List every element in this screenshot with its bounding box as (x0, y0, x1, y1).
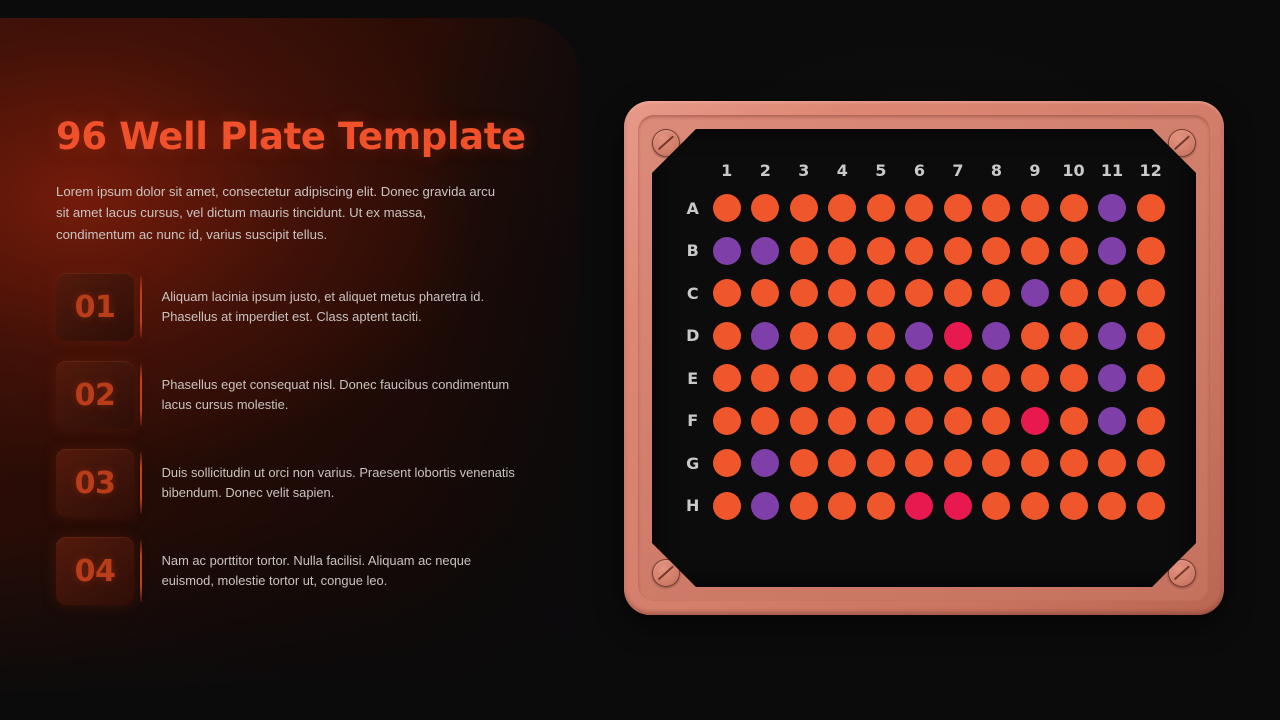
well-C12[interactable] (1137, 279, 1165, 307)
row-header-G: G (678, 442, 707, 485)
row-header-D: D (678, 315, 707, 358)
well-A4[interactable] (828, 194, 856, 222)
slide-canvas: 96 Well Plate Template Lorem ipsum dolor… (0, 0, 1280, 720)
well-cell (1016, 357, 1055, 400)
well-cell (939, 357, 978, 400)
list-item[interactable]: 01 Aliquam lacinia ipsum justo, et aliqu… (56, 273, 526, 341)
row-header-A: A (678, 187, 707, 230)
well-row-A: A (678, 187, 1170, 230)
well-cell (1054, 315, 1093, 358)
well-cell (977, 442, 1016, 485)
well-C9[interactable] (1021, 279, 1049, 307)
well-D7[interactable] (944, 322, 972, 350)
well-cell (900, 230, 939, 273)
well-H3[interactable] (790, 492, 818, 520)
well-row-B: B (678, 230, 1170, 273)
well-cell (746, 485, 785, 528)
well-G2[interactable] (751, 449, 779, 477)
left-content-column: 96 Well Plate Template Lorem ipsum dolor… (56, 118, 526, 605)
well-plate[interactable]: 123456789101112ABCDEFGH (624, 101, 1224, 615)
well-cell (823, 400, 862, 443)
well-H10[interactable] (1060, 492, 1088, 520)
well-B3[interactable] (790, 237, 818, 265)
well-cell (1054, 442, 1093, 485)
well-A5[interactable] (867, 194, 895, 222)
well-cell (939, 187, 978, 230)
well-E7[interactable] (944, 364, 972, 392)
plate-well-area: 123456789101112ABCDEFGH (652, 129, 1196, 587)
well-cell (862, 272, 901, 315)
well-G11[interactable] (1098, 449, 1126, 477)
well-row-G: G (678, 442, 1170, 485)
well-B4[interactable] (828, 237, 856, 265)
well-row-E: E (678, 357, 1170, 400)
well-cell (1131, 442, 1170, 485)
well-F1[interactable] (713, 407, 741, 435)
well-cell (939, 272, 978, 315)
well-B7[interactable] (944, 237, 972, 265)
well-cell (900, 442, 939, 485)
well-D9[interactable] (1021, 322, 1049, 350)
well-E9[interactable] (1021, 364, 1049, 392)
well-C11[interactable] (1098, 279, 1126, 307)
well-cell (939, 442, 978, 485)
well-cell (1093, 485, 1132, 528)
well-cell (1016, 272, 1055, 315)
well-cell (707, 400, 746, 443)
page-title: 96 Well Plate Template (56, 118, 526, 155)
well-grid-corner (678, 157, 707, 187)
well-cell (862, 400, 901, 443)
well-cell (1054, 187, 1093, 230)
well-D4[interactable] (828, 322, 856, 350)
well-cell (707, 315, 746, 358)
well-cell (862, 485, 901, 528)
feature-text: Phasellus eget consequat nisl. Donec fau… (162, 375, 517, 416)
well-cell (1093, 357, 1132, 400)
well-cell (1093, 272, 1132, 315)
well-cell (1016, 315, 1055, 358)
well-H5[interactable] (867, 492, 895, 520)
well-cell (1054, 485, 1093, 528)
column-header-4: 4 (823, 157, 862, 187)
column-header-10: 10 (1054, 157, 1093, 187)
well-cell (707, 357, 746, 400)
well-G3[interactable] (790, 449, 818, 477)
well-A11[interactable] (1098, 194, 1126, 222)
well-B5[interactable] (867, 237, 895, 265)
well-D12[interactable] (1137, 322, 1165, 350)
well-A6[interactable] (905, 194, 933, 222)
well-H2[interactable] (751, 492, 779, 520)
well-B10[interactable] (1060, 237, 1088, 265)
well-cell (1131, 357, 1170, 400)
well-cell (1131, 400, 1170, 443)
feature-number: 01 (75, 290, 116, 325)
well-F10[interactable] (1060, 407, 1088, 435)
well-cell (785, 315, 824, 358)
well-cell (785, 230, 824, 273)
well-cell (977, 315, 1016, 358)
well-cell (785, 187, 824, 230)
well-B1[interactable] (713, 237, 741, 265)
well-cell (785, 485, 824, 528)
well-D2[interactable] (751, 322, 779, 350)
well-cell (746, 315, 785, 358)
well-D10[interactable] (1060, 322, 1088, 350)
well-cell (900, 315, 939, 358)
well-B2[interactable] (751, 237, 779, 265)
well-cell (862, 187, 901, 230)
well-F9[interactable] (1021, 407, 1049, 435)
well-D11[interactable] (1098, 322, 1126, 350)
feature-number: 04 (75, 554, 116, 589)
well-H9[interactable] (1021, 492, 1049, 520)
well-cell (939, 230, 978, 273)
well-cell (746, 357, 785, 400)
well-grid-wrapper: 123456789101112ABCDEFGH (652, 129, 1196, 587)
column-header-9: 9 (1016, 157, 1055, 187)
well-cell (977, 485, 1016, 528)
well-D5[interactable] (867, 322, 895, 350)
well-cell (823, 187, 862, 230)
well-D6[interactable] (905, 322, 933, 350)
well-cell (977, 400, 1016, 443)
well-cell (1093, 315, 1132, 358)
well-A3[interactable] (790, 194, 818, 222)
well-E3[interactable] (790, 364, 818, 392)
well-cell (977, 230, 1016, 273)
well-cell (900, 357, 939, 400)
column-header-2: 2 (746, 157, 785, 187)
column-header-11: 11 (1093, 157, 1132, 187)
well-C4[interactable] (828, 279, 856, 307)
well-E1[interactable] (713, 364, 741, 392)
well-A2[interactable] (751, 194, 779, 222)
well-F5[interactable] (867, 407, 895, 435)
well-A8[interactable] (982, 194, 1010, 222)
well-cell (900, 485, 939, 528)
well-cell (1016, 442, 1055, 485)
row-header-H: H (678, 485, 707, 528)
well-H7[interactable] (944, 492, 972, 520)
well-cell (785, 272, 824, 315)
well-cell (1016, 400, 1055, 443)
well-cell (1131, 272, 1170, 315)
well-B6[interactable] (905, 237, 933, 265)
feature-number-badge: 01 (56, 273, 134, 341)
feature-number: 03 (75, 466, 116, 501)
well-A12[interactable] (1137, 194, 1165, 222)
feature-text: Nam ac porttitor tortor. Nulla facilisi.… (162, 551, 517, 592)
well-cell (1131, 315, 1170, 358)
well-C8[interactable] (982, 279, 1010, 307)
well-cell (977, 272, 1016, 315)
well-cell (1093, 442, 1132, 485)
feature-list: 01 Aliquam lacinia ipsum justo, et aliqu… (56, 273, 526, 605)
column-header-8: 8 (977, 157, 1016, 187)
well-cell (862, 315, 901, 358)
well-F11[interactable] (1098, 407, 1126, 435)
well-E5[interactable] (867, 364, 895, 392)
column-header-1: 1 (707, 157, 746, 187)
well-E10[interactable] (1060, 364, 1088, 392)
column-header-7: 7 (939, 157, 978, 187)
well-G4[interactable] (828, 449, 856, 477)
well-H8[interactable] (982, 492, 1010, 520)
well-B9[interactable] (1021, 237, 1049, 265)
well-cell (746, 272, 785, 315)
well-C5[interactable] (867, 279, 895, 307)
feature-number-badge: 04 (56, 537, 134, 605)
well-row-C: C (678, 272, 1170, 315)
row-header-B: B (678, 230, 707, 273)
well-F8[interactable] (982, 407, 1010, 435)
well-cell (977, 187, 1016, 230)
well-cell (1054, 400, 1093, 443)
well-cell (1016, 485, 1055, 528)
well-cell (1093, 400, 1132, 443)
well-cell (823, 315, 862, 358)
well-cell (900, 272, 939, 315)
row-header-C: C (678, 272, 707, 315)
well-C10[interactable] (1060, 279, 1088, 307)
well-F2[interactable] (751, 407, 779, 435)
well-F12[interactable] (1137, 407, 1165, 435)
well-cell (1054, 357, 1093, 400)
well-cell (785, 442, 824, 485)
well-cell (707, 187, 746, 230)
well-cell (900, 187, 939, 230)
well-D8[interactable] (982, 322, 1010, 350)
well-row-F: F (678, 400, 1170, 443)
well-row-H: H (678, 485, 1170, 528)
well-F4[interactable] (828, 407, 856, 435)
feature-divider (140, 364, 142, 426)
well-cell (1131, 187, 1170, 230)
well-cell (977, 357, 1016, 400)
well-F3[interactable] (790, 407, 818, 435)
well-C2[interactable] (751, 279, 779, 307)
well-F7[interactable] (944, 407, 972, 435)
well-cell (900, 400, 939, 443)
plate-inner-frame: 123456789101112ABCDEFGH (638, 115, 1210, 601)
well-cell (746, 442, 785, 485)
well-B12[interactable] (1137, 237, 1165, 265)
well-cell (1131, 230, 1170, 273)
well-cell (1093, 230, 1132, 273)
well-cell (823, 272, 862, 315)
well-E4[interactable] (828, 364, 856, 392)
well-cell (823, 230, 862, 273)
well-grid: 123456789101112ABCDEFGH (678, 157, 1170, 527)
feature-number-badge: 02 (56, 361, 134, 429)
well-C6[interactable] (905, 279, 933, 307)
well-cell (1016, 187, 1055, 230)
row-header-F: F (678, 400, 707, 443)
well-G8[interactable] (982, 449, 1010, 477)
well-cell (707, 272, 746, 315)
well-cell (862, 357, 901, 400)
well-cell (746, 187, 785, 230)
list-item[interactable]: 04 Nam ac porttitor tortor. Nulla facili… (56, 537, 526, 605)
well-G6[interactable] (905, 449, 933, 477)
well-H4[interactable] (828, 492, 856, 520)
list-item[interactable]: 02 Phasellus eget consequat nisl. Donec … (56, 361, 526, 429)
well-D1[interactable] (713, 322, 741, 350)
well-cell (1093, 187, 1132, 230)
well-cell (1131, 485, 1170, 528)
well-cell (823, 485, 862, 528)
column-header-6: 6 (900, 157, 939, 187)
well-G10[interactable] (1060, 449, 1088, 477)
well-A7[interactable] (944, 194, 972, 222)
well-cell (823, 442, 862, 485)
feature-text: Duis sollicitudin ut orci non varius. Pr… (162, 463, 517, 504)
well-E8[interactable] (982, 364, 1010, 392)
column-header-12: 12 (1131, 157, 1170, 187)
well-cell (823, 357, 862, 400)
well-row-D: D (678, 315, 1170, 358)
row-header-E: E (678, 357, 707, 400)
column-header-5: 5 (862, 157, 901, 187)
well-A10[interactable] (1060, 194, 1088, 222)
well-G9[interactable] (1021, 449, 1049, 477)
well-cell (1016, 230, 1055, 273)
feature-divider (140, 452, 142, 514)
well-E12[interactable] (1137, 364, 1165, 392)
well-H6[interactable] (905, 492, 933, 520)
well-cell (746, 230, 785, 273)
well-G1[interactable] (713, 449, 741, 477)
well-G12[interactable] (1137, 449, 1165, 477)
well-E6[interactable] (905, 364, 933, 392)
well-C7[interactable] (944, 279, 972, 307)
well-cell (939, 315, 978, 358)
well-cell (939, 400, 978, 443)
well-C1[interactable] (713, 279, 741, 307)
well-D3[interactable] (790, 322, 818, 350)
well-E11[interactable] (1098, 364, 1126, 392)
well-cell (862, 442, 901, 485)
well-B8[interactable] (982, 237, 1010, 265)
well-C3[interactable] (790, 279, 818, 307)
well-G5[interactable] (867, 449, 895, 477)
list-item[interactable]: 03 Duis sollicitudin ut orci non varius.… (56, 449, 526, 517)
well-G7[interactable] (944, 449, 972, 477)
feature-number: 02 (75, 378, 116, 413)
well-H1[interactable] (713, 492, 741, 520)
feature-divider (140, 276, 142, 338)
well-cell (785, 400, 824, 443)
well-cell (707, 230, 746, 273)
well-cell (862, 230, 901, 273)
well-cell (707, 485, 746, 528)
well-A9[interactable] (1021, 194, 1049, 222)
feature-text: Aliquam lacinia ipsum justo, et aliquet … (162, 287, 517, 328)
well-cell (746, 400, 785, 443)
well-H12[interactable] (1137, 492, 1165, 520)
feature-divider (140, 540, 142, 602)
well-cell (939, 485, 978, 528)
well-cell (707, 442, 746, 485)
column-header-3: 3 (785, 157, 824, 187)
feature-number-badge: 03 (56, 449, 134, 517)
well-cell (785, 357, 824, 400)
well-F6[interactable] (905, 407, 933, 435)
well-H11[interactable] (1098, 492, 1126, 520)
well-cell (1054, 230, 1093, 273)
intro-paragraph: Lorem ipsum dolor sit amet, consectetur … (56, 181, 501, 245)
well-cell (1054, 272, 1093, 315)
well-B11[interactable] (1098, 237, 1126, 265)
well-E2[interactable] (751, 364, 779, 392)
well-A1[interactable] (713, 194, 741, 222)
